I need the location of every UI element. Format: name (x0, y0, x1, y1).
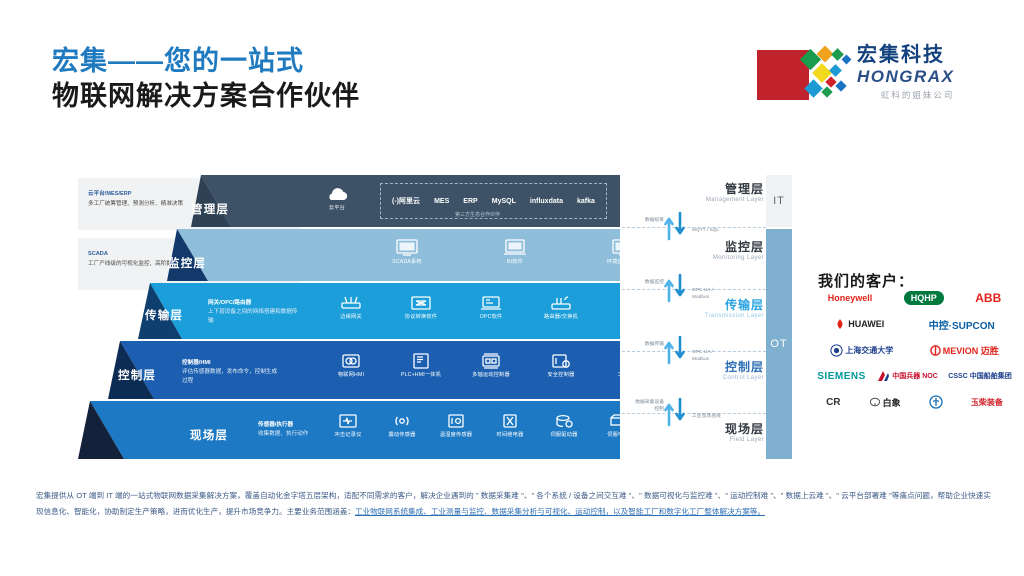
layer-field-cn: 现场层 (725, 423, 764, 437)
icon-servo-driver-label: 伺服驱动器 (551, 432, 578, 440)
customer-logo-abb: ABB (975, 291, 1001, 305)
customer-logo-baixiang-label: 白象 (883, 396, 901, 409)
mevion-mark-icon (930, 345, 941, 356)
monitor-icon (395, 239, 419, 256)
tier-name-transmission: 传输层 (145, 307, 183, 323)
layer-control: 控制层 Control Layer (723, 361, 764, 381)
layer-monitoring-en: Monitoring Layer (713, 255, 764, 261)
shock-recorder-icon (337, 413, 359, 429)
tier-name-control: 控制层 (118, 367, 156, 383)
circle-seal-icon (929, 395, 943, 409)
icon-servo-driver[interactable]: 伺服驱动器 (538, 413, 590, 440)
flow-1-down-label: OPC UA / Modbus (692, 287, 722, 301)
customer-logo-honeywell: Honeywell (828, 293, 873, 303)
partner-logo-0: (-)阿里云 (392, 192, 420, 210)
tier-desc-control-title: 控制器/HMI (182, 359, 282, 368)
tier-control-icons: 物联网HMI PLC+HMI一体机 多轴运动控制器 (322, 353, 660, 380)
icon-iot-hmi[interactable]: 物联网HMI (322, 353, 380, 380)
tier-name-field: 现场层 (190, 427, 228, 443)
partner-logo-3: MySQL (492, 192, 516, 210)
logo-subtitle: 虹科的姐妹公司 (857, 89, 954, 101)
pyramid-tier-monitoring[interactable]: 监控层 SCADA系统 BI软件 (60, 229, 620, 281)
icon-safety-controller-label: 安全控制器 (548, 372, 575, 380)
icon-vibration-sensor-label: 震动传感器 (389, 432, 416, 440)
footer-link[interactable]: 工业物联网系统集成、工业测量与监控、数据采集分析与可视化、运动控制，以及智能工厂… (355, 507, 765, 516)
vibration-sensor-icon (391, 413, 413, 429)
logo-mark-icon (757, 46, 849, 104)
partner-logo-4: influxdata (530, 192, 563, 210)
icon-bi-software[interactable]: BI软件 (486, 239, 544, 267)
customer-logo-sjtu: 上海交通大学 (830, 344, 893, 357)
icon-time-relay[interactable]: 时间继电器 (484, 413, 536, 440)
icon-protocol-converter[interactable]: 协议转换软件 (392, 295, 450, 322)
flow-1: 数据监控 OPC UA / Modbus (664, 273, 690, 308)
flow-0-down-label: MQTT / SQL (692, 227, 734, 234)
flow-3: 数据采集设备控制 工业现场总线 (664, 397, 690, 432)
laptop-icon (503, 239, 527, 256)
customer-row: CR 白象 玉柴装备 (812, 389, 1017, 415)
icon-vibration-sensor[interactable]: 震动传感器 (376, 413, 428, 440)
layer-field: 现场层 Field Layer (725, 423, 764, 443)
updown-arrow-icon (664, 211, 690, 241)
logo-diamond-blue-icon (842, 55, 852, 65)
logo-name-en: HONGRAX (857, 67, 954, 87)
icon-protocol-converter-label: 协议转换软件 (405, 314, 437, 322)
icon-router-switch[interactable]: 路由器/交换机 (532, 295, 590, 322)
flow-0: 数据统筹 MQTT / SQL (664, 211, 690, 246)
layer-management: 管理层 Management Layer (706, 183, 764, 203)
plc-icon (410, 353, 432, 369)
temp-humidity-sensor-icon (445, 413, 467, 429)
company-logo: 宏集科技 HONGRAX 虹科的姐妹公司 (757, 46, 999, 112)
huawei-flower-icon (834, 318, 846, 330)
layer-management-en: Management Layer (706, 197, 764, 203)
customer-logo-cssc-circle (929, 395, 943, 409)
logo-diamond-cyan-icon (829, 64, 842, 77)
ot-band: OT (766, 229, 792, 459)
customer-logo-huawei: HUAWEI (834, 318, 884, 330)
flow-2-down-label: OPC UA / Modbus (692, 349, 722, 363)
footer-text-part1: 宏集提供从 OT 端到 IT 端的一站式物联网数据采集解决方案，覆盖自动化金字塔… (36, 491, 892, 500)
icon-scada-system[interactable]: SCADA系统 (378, 239, 436, 267)
customer-logo-siemens: SIEMENS (817, 371, 866, 382)
time-relay-icon (499, 413, 521, 429)
logo-diamond-blue2-icon (835, 80, 846, 91)
cloud-icon (325, 187, 349, 202)
flow-1-up-label: 数据监控 (638, 279, 664, 286)
sjtu-seal-icon (830, 344, 843, 357)
icon-shock-recorder-label: 冲击记录仪 (335, 432, 362, 440)
tier-desc-transmission-text: 上下层设备之间的网络搭建和数据传输 (208, 308, 300, 327)
exchange-icon (410, 295, 432, 311)
elephant-icon (869, 396, 881, 408)
tier-name-management: 管理层 (191, 201, 229, 217)
icon-plc-hmi[interactable]: PLC+HMI一体机 (392, 353, 450, 380)
logo-name-cn: 宏集科技 (857, 44, 954, 67)
pyramid-tier-transmission[interactable]: 传输层 网关/OPC/路由器 上下层设备之间的网络搭建和数据传输 边缘网关 协议… (60, 283, 620, 339)
slide-root: 宏集——您的一站式 物联网解决方案合作伙伴 宏集科技 HONGRAX 虹科的姐妹… (0, 0, 1024, 576)
customer-logo-mevion: MEVION 迈胜 (930, 344, 999, 357)
opc-icon (480, 295, 502, 311)
it-band: IT (766, 175, 792, 227)
tier-desc-transmission: 网关/OPC/路由器 上下层设备之间的网络搭建和数据传输 (208, 299, 300, 327)
tier-field-icons: 冲击记录仪 震动传感器 温湿度传感器 (322, 413, 644, 440)
customer-row: SIEMENS 中国兵器 NOC CSSC 中国船舶集团 (812, 363, 1017, 389)
customer-logo-sjtu-label: 上海交通大学 (845, 345, 893, 356)
updown-arrow-icon (664, 335, 690, 365)
layer-control-en: Control Layer (723, 375, 764, 381)
icon-cloud-platform-label: 云平台 (329, 205, 345, 213)
automation-pyramid: 管理层 云平台 (-)阿里云 MES ERP MySQL influxdata … (60, 175, 620, 471)
partner-logo-1: MES (434, 192, 449, 210)
customer-logo-noc: 中国兵器 NOC (876, 370, 938, 382)
customer-logo-huawei-label: HUAWEI (848, 319, 884, 329)
safety-controller-icon (550, 353, 572, 369)
icon-safety-controller[interactable]: 安全控制器 (532, 353, 590, 380)
icon-edge-gateway-label: 边缘网关 (340, 314, 362, 322)
partner-caption: 第三方生态合作伙伴 (450, 211, 505, 218)
flow-2: 数据传输 OPC UA / Modbus (664, 335, 690, 370)
icon-time-relay-label: 时间继电器 (497, 432, 524, 440)
tier-desc-control: 控制器/HMI 评估传感器数据，发布命令，控制生成过程 (182, 359, 282, 387)
layer-monitoring: 监控层 Monitoring Layer (713, 241, 764, 261)
flow-0-up-label: 数据统筹 (638, 217, 664, 224)
updown-arrow-icon (664, 397, 690, 427)
tier-monitoring-icons: SCADA系统 BI软件 环境监测系统 (378, 239, 652, 267)
noc-mark-icon (876, 370, 890, 382)
icon-plc-hmi-label: PLC+HMI一体机 (401, 372, 441, 380)
icon-iot-hmi-label: 物联网HMI (338, 372, 364, 380)
customer-logo-supcon: 中控·SUPCON (929, 317, 995, 332)
icon-opc-software[interactable]: OPC软件 (462, 295, 520, 322)
layer-control-cn: 控制层 (723, 361, 764, 375)
customer-row: Honeywell HQHP ABB (812, 285, 1017, 311)
it-band-label: IT (773, 195, 785, 207)
icon-temp-humidity-sensor-label: 温湿度传感器 (440, 432, 472, 440)
flow-2-up-label: 数据传输 (638, 341, 664, 348)
layer-management-cn: 管理层 (706, 183, 764, 197)
customer-logo-yuchai: 玉柴装备 (971, 397, 1003, 408)
customer-row: 上海交通大学 MEVION 迈胜 (812, 337, 1017, 363)
customer-logo-hqhp: HQHP (904, 291, 944, 305)
router-icon (340, 295, 362, 311)
customer-row: HUAWEI 中控·SUPCON (812, 311, 1017, 337)
layer-monitoring-cn: 监控层 (713, 241, 764, 255)
icon-opc-software-label: OPC软件 (480, 314, 503, 322)
layer-legend-column: IT OT 管理层 Management Layer 监控层 Monitorin… (622, 175, 792, 471)
customer-logo-noc-label: 中国兵器 NOC (892, 371, 938, 381)
page-title: 宏集——您的一站式 物联网解决方案合作伙伴 (52, 44, 360, 113)
tier-desc-transmission-title: 网关/OPC/路由器 (208, 299, 300, 308)
ot-band-label: OT (770, 338, 787, 350)
pyramid-tier-control[interactable]: 控制层 控制器/HMI 评估传感器数据，发布命令，控制生成过程 物联网HMI P… (60, 341, 620, 399)
footer-description: 宏集提供从 OT 端到 IT 端的一站式物联网数据采集解决方案，覆盖自动化金字塔… (36, 488, 991, 519)
title-line-2: 物联网解决方案合作伙伴 (52, 79, 360, 114)
icon-bi-software-label: BI软件 (507, 259, 523, 267)
flow-3-down-label: 工业现场总线 (692, 413, 722, 420)
title-line-1: 宏集——您的一站式 (52, 44, 360, 79)
icon-cloud-platform[interactable]: 云平台 (308, 187, 366, 213)
icon-router-switch-label: 路由器/交换机 (544, 314, 578, 322)
tier-transmission-icons: 边缘网关 协议转换软件 OPC软件 (322, 295, 660, 322)
icon-temp-humidity-sensor[interactable]: 温湿度传感器 (430, 413, 482, 440)
tier-name-monitoring: 监控层 (168, 255, 206, 271)
layer-field-en: Field Layer (725, 437, 764, 443)
customer-logo-baixiang: 白象 (869, 396, 901, 409)
hmi-icon (340, 353, 362, 369)
tier-management-icons: 云平台 (308, 187, 366, 213)
motion-controller-icon (480, 353, 502, 369)
pyramid-tier-management[interactable]: 管理层 云平台 (-)阿里云 MES ERP MySQL influxdata … (60, 175, 620, 227)
icon-shock-recorder[interactable]: 冲击记录仪 (322, 413, 374, 440)
partner-logo-5: kafka (577, 192, 595, 210)
flow-3-up-label: 数据采集设备控制 (634, 399, 664, 413)
icon-scada-system-label: SCADA系统 (392, 259, 422, 267)
icon-motion-controller[interactable]: 多轴运动控制器 (462, 353, 520, 380)
wifi-router-icon (550, 295, 572, 311)
customers-grid: Honeywell HQHP ABB HUAWEI 中控·SUPCON 上海交通… (812, 285, 1017, 415)
customer-logo-mevion-label: MEVION 迈胜 (943, 344, 999, 357)
icon-edge-gateway[interactable]: 边缘网关 (322, 295, 380, 322)
icon-motion-controller-label: 多轴运动控制器 (472, 372, 510, 380)
layer-transmission: 传输层 Transmission Layer (705, 299, 764, 319)
servo-driver-icon (553, 413, 575, 429)
logo-text: 宏集科技 HONGRAX 虹科的姐妹公司 (857, 44, 954, 101)
pyramid-tier-field[interactable]: 现场层 传感器/执行器 收集数据、执行动作 冲击记录仪 震动传感器 (60, 401, 620, 459)
layer-transmission-en: Transmission Layer (705, 313, 764, 319)
customer-logo-cr: CR (826, 397, 840, 408)
tier-desc-control-text: 评估传感器数据，发布命令，控制生成过程 (182, 368, 282, 387)
partner-logo-2: ERP (463, 192, 477, 210)
customer-logo-cssc: CSSC 中国船舶集团 (948, 371, 1011, 381)
updown-arrow-icon (664, 273, 690, 303)
